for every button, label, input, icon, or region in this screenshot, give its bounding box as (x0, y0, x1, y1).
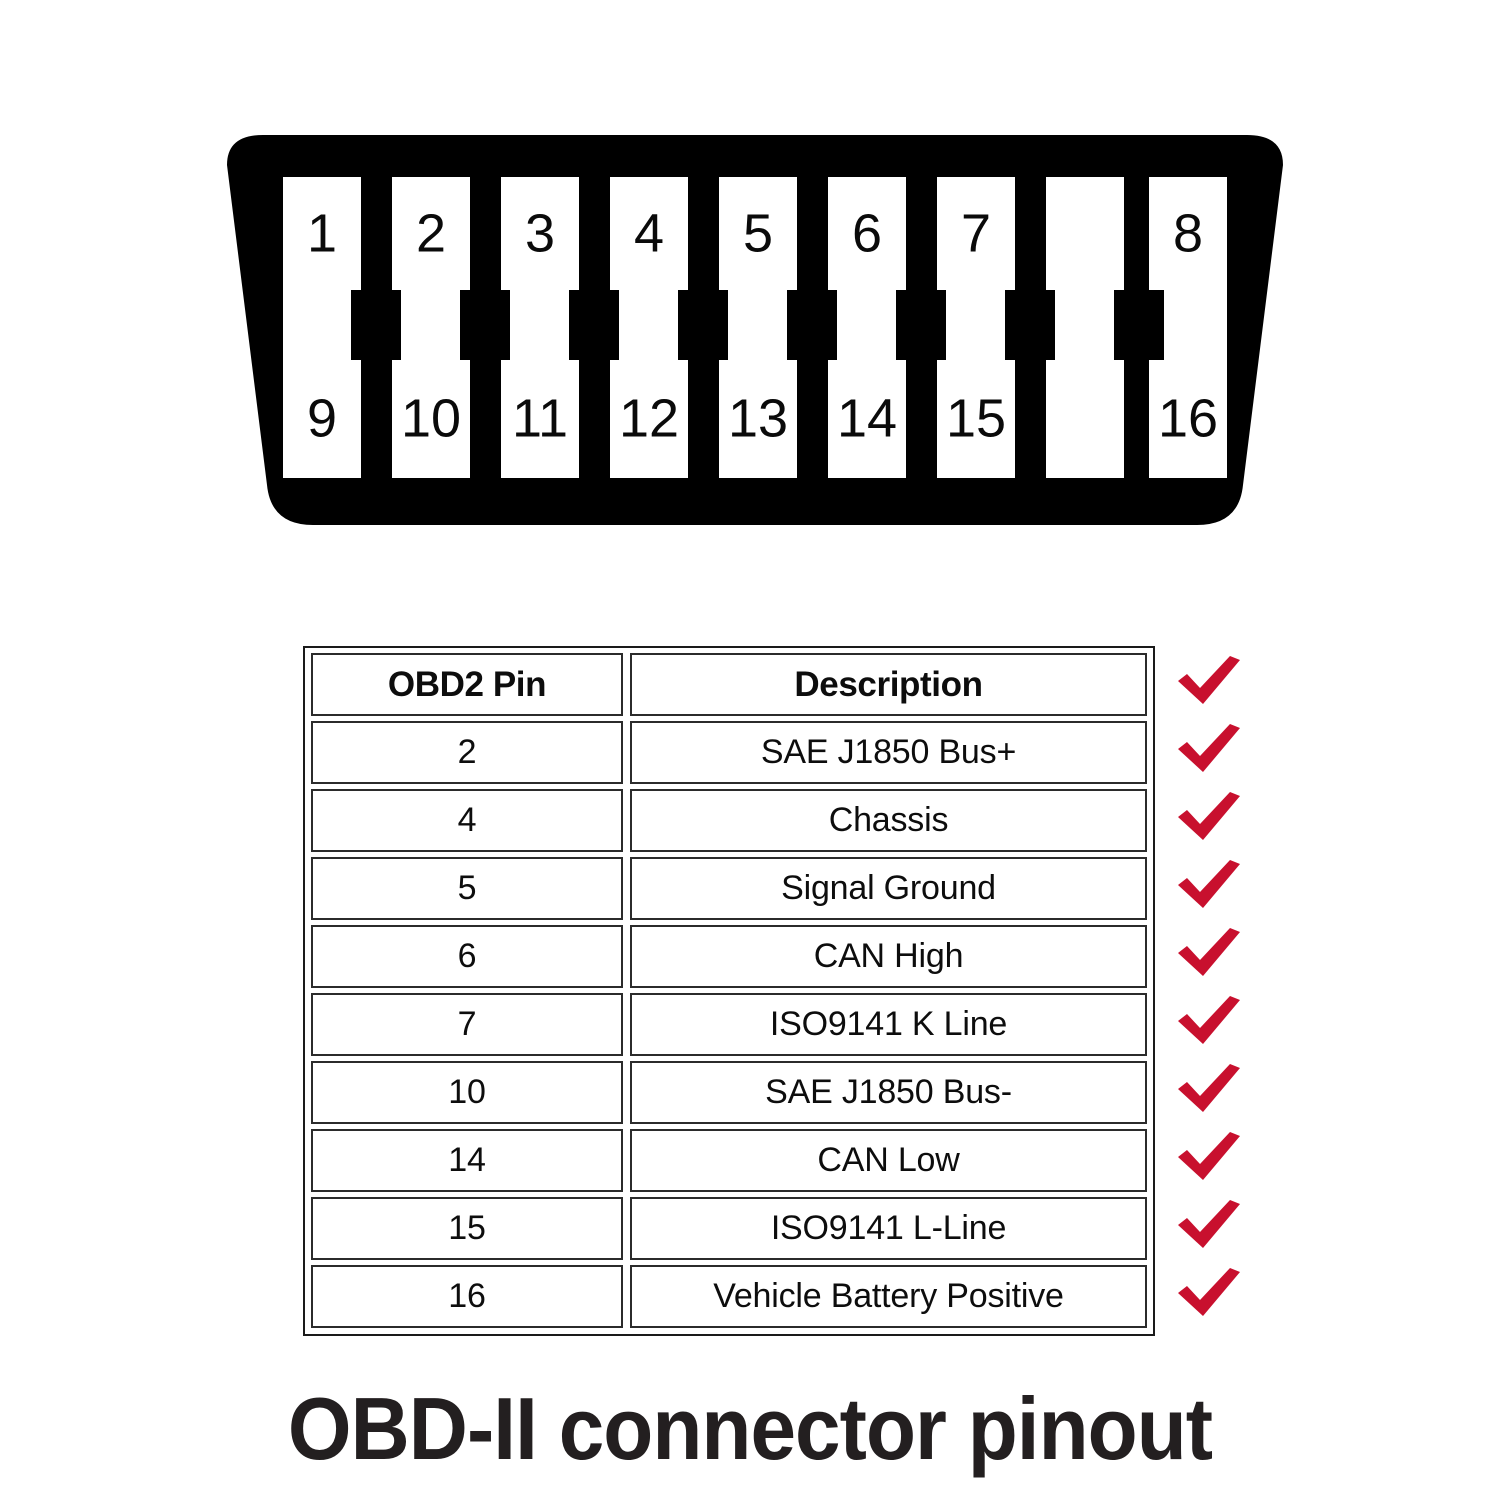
check-icon (1176, 1130, 1242, 1182)
table-header-row: OBD2 Pin Description (311, 653, 1147, 716)
table-row: 16 Vehicle Battery Positive (311, 1265, 1147, 1328)
column-header-pin: OBD2 Pin (311, 653, 623, 716)
pin-label-6: 6 (852, 203, 882, 263)
divider-post-8 (1114, 290, 1164, 360)
divider-post-7 (1005, 290, 1055, 360)
connector-svg: 1 2 3 4 5 6 7 8 9 10 11 12 13 14 15 16 (185, 125, 1325, 540)
checkmark-column (1176, 646, 1266, 1326)
pin-label-1: 1 (307, 203, 337, 263)
table-row: 5 Signal Ground (311, 857, 1147, 920)
cell-description: CAN Low (630, 1129, 1147, 1192)
cell-pin: 14 (311, 1129, 623, 1192)
cell-pin: 5 (311, 857, 623, 920)
table-row: 4 Chassis (311, 789, 1147, 852)
table-row: 15 ISO9141 L-Line (311, 1197, 1147, 1260)
check-slot (1176, 1054, 1266, 1122)
cell-description: Vehicle Battery Positive (630, 1265, 1147, 1328)
table-row: 14 CAN Low (311, 1129, 1147, 1192)
divider-post-2 (460, 290, 510, 360)
check-icon (1176, 926, 1242, 978)
pin-label-11: 11 (512, 388, 568, 448)
cell-pin: 16 (311, 1265, 623, 1328)
pinout-table: OBD2 Pin Description 2 SAE J1850 Bus+ 4 … (303, 646, 1155, 1336)
pin-label-8: 8 (1173, 203, 1203, 263)
divider-post-4 (678, 290, 728, 360)
obd2-connector-diagram: 1 2 3 4 5 6 7 8 9 10 11 12 13 14 15 16 (185, 125, 1325, 540)
check-icon (1176, 654, 1242, 706)
pin-label-9: 9 (307, 388, 337, 448)
pin-label-5: 5 (743, 203, 773, 263)
divider-post-1 (351, 290, 401, 360)
check-slot (1176, 986, 1266, 1054)
pin-label-14: 14 (837, 388, 897, 448)
check-slot (1176, 782, 1266, 850)
check-icon (1176, 1062, 1242, 1114)
cell-pin: 2 (311, 721, 623, 784)
cell-pin: 6 (311, 925, 623, 988)
check-slot (1176, 918, 1266, 986)
check-slot (1176, 646, 1266, 714)
check-icon (1176, 994, 1242, 1046)
cell-description: Signal Ground (630, 857, 1147, 920)
pin-label-4: 4 (634, 203, 664, 263)
check-slot (1176, 1190, 1266, 1258)
table-row: 7 ISO9141 K Line (311, 993, 1147, 1056)
divider-post-3 (569, 290, 619, 360)
pin-label-16: 16 (1158, 388, 1218, 448)
pin-label-13: 13 (728, 388, 788, 448)
check-slot (1176, 850, 1266, 918)
page-title: OBD-II connector pinout (53, 1378, 1448, 1480)
cell-pin: 10 (311, 1061, 623, 1124)
check-icon (1176, 790, 1242, 842)
pin-label-2: 2 (416, 203, 446, 263)
check-icon (1176, 1266, 1242, 1318)
pin-cavity-16 (1046, 360, 1124, 478)
cell-description: CAN High (630, 925, 1147, 988)
cell-description: SAE J1850 Bus- (630, 1061, 1147, 1124)
cell-description: Chassis (630, 789, 1147, 852)
cell-pin: 15 (311, 1197, 623, 1260)
table-row: 6 CAN High (311, 925, 1147, 988)
table-row: 10 SAE J1850 Bus- (311, 1061, 1147, 1124)
check-icon (1176, 858, 1242, 910)
check-slot (1176, 1258, 1266, 1326)
cell-description: SAE J1850 Bus+ (630, 721, 1147, 784)
pin-label-12: 12 (619, 388, 679, 448)
pin-label-7: 7 (961, 203, 991, 263)
cell-description: ISO9141 L-Line (630, 1197, 1147, 1260)
table-row: 2 SAE J1850 Bus+ (311, 721, 1147, 784)
divider-post-6 (896, 290, 946, 360)
pin-label-10: 10 (401, 388, 461, 448)
check-slot (1176, 714, 1266, 782)
check-icon (1176, 1198, 1242, 1250)
cell-description: ISO9141 K Line (630, 993, 1147, 1056)
pin-label-3: 3 (525, 203, 555, 263)
cell-pin: 4 (311, 789, 623, 852)
check-icon (1176, 722, 1242, 774)
pin-cavity-8 (1046, 177, 1124, 290)
pin-label-15: 15 (946, 388, 1006, 448)
divider-post-5 (787, 290, 837, 360)
center-white-band (283, 290, 1227, 360)
column-header-description: Description (630, 653, 1147, 716)
cell-pin: 7 (311, 993, 623, 1056)
check-slot (1176, 1122, 1266, 1190)
